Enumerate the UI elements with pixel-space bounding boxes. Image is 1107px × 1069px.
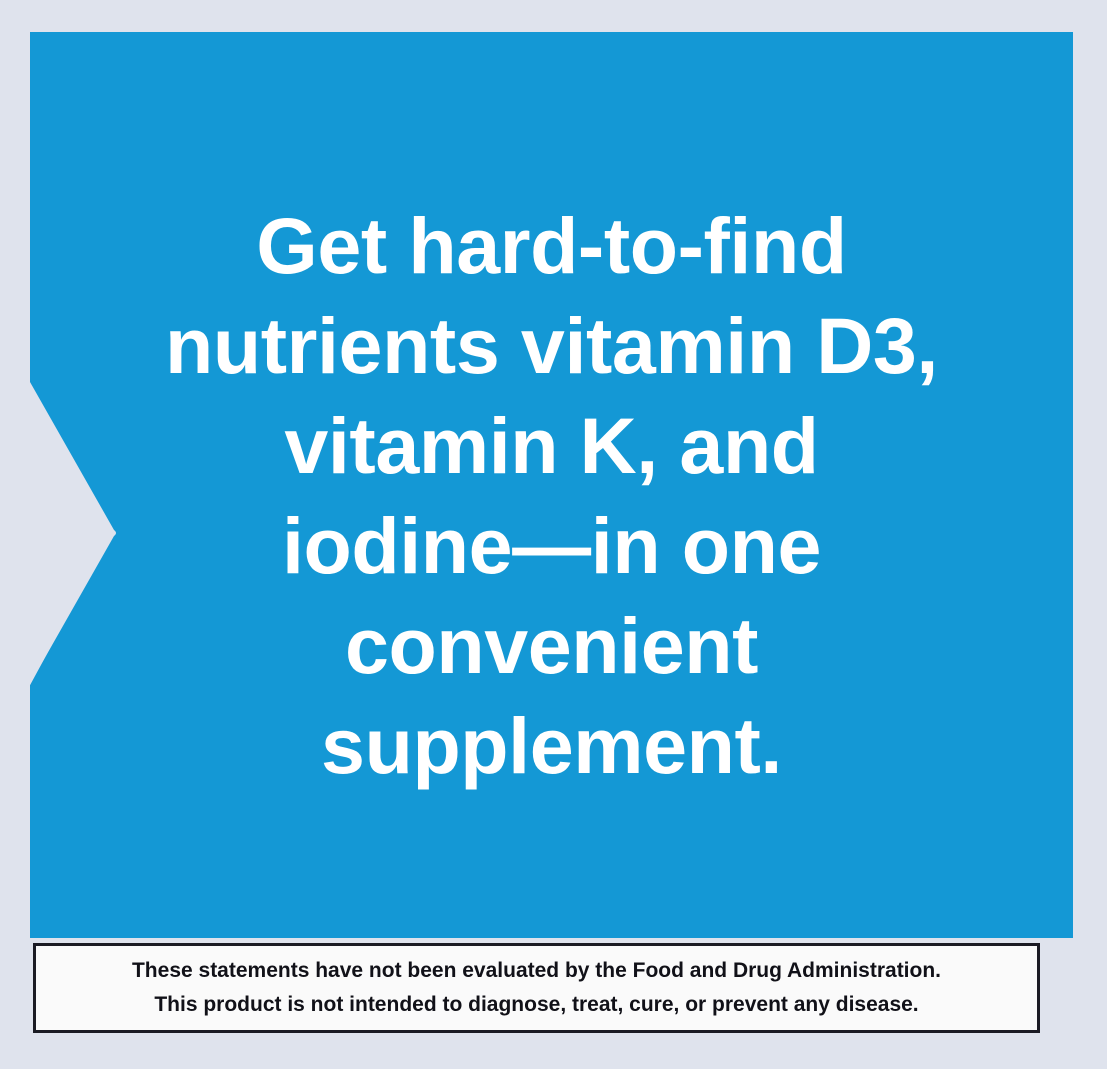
headline-line-1: Get hard-to-find bbox=[30, 196, 1073, 296]
fda-disclaimer-box: These statements have not been evaluated… bbox=[33, 943, 1040, 1033]
headline-line-3: vitamin K, and bbox=[30, 396, 1073, 496]
headline-line-5: convenient bbox=[30, 596, 1073, 696]
page-title: Get hard-to-find nutrients vitamin D3, v… bbox=[30, 196, 1073, 796]
disclaimer-line-1: These statements have not been evaluated… bbox=[132, 954, 941, 988]
headline-line-4: iodine—in one bbox=[30, 496, 1073, 596]
headline-line-2: nutrients vitamin D3, bbox=[30, 296, 1073, 396]
disclaimer-line-2: This product is not intended to diagnose… bbox=[154, 988, 918, 1022]
headline-line-6: supplement. bbox=[30, 696, 1073, 796]
promo-card: Get hard-to-find nutrients vitamin D3, v… bbox=[0, 0, 1107, 1069]
